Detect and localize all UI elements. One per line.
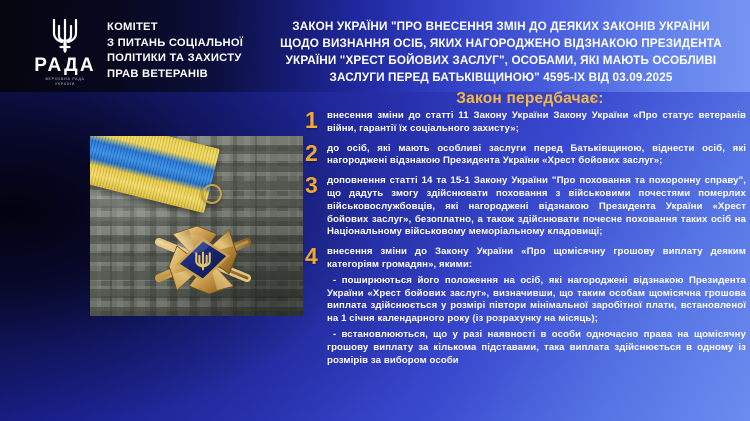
provision-number: 1	[305, 110, 327, 130]
infographic-poster: РАДА ВЕРХОВНА РАДА УКРАЇНИ КОМІТЕТ З ПИТ…	[0, 0, 750, 421]
provision-item: 2 до осіб, які мають особливі заслуги пе…	[305, 143, 746, 169]
logo-wordmark: РАДА	[28, 56, 102, 75]
law-title-line-4: ЗАСЛУГИ ПЕРЕД БАТЬКІВЩИНОЮ" 4595-IX ВІД …	[258, 69, 744, 86]
law-title-line-3: УКРАЇНИ "ХРЕСТ БОЙОВИХ ЗАСЛУГ", ОСОБАМИ,…	[258, 52, 744, 69]
provision-item: 3 доповнення статті 14 та 15-1 Закону Ук…	[305, 175, 746, 239]
provision-subitem: - поширюються його положення на осіб, як…	[327, 275, 746, 326]
provision-text: до осіб, які мають особливі заслуги пере…	[327, 143, 746, 169]
provision-text: внесення зміни до Закону України «Про що…	[327, 246, 746, 272]
law-title-line-1: ЗАКОН УКРАЇНИ "ПРО ВНЕСЕННЯ ЗМІН ДО ДЕЯК…	[258, 18, 744, 35]
verkhovna-rada-logo: РАДА ВЕРХОВНА РАДА УКРАЇНИ	[28, 14, 102, 88]
law-title-line-2: ЩОДО ВИЗНАННЯ ОСІБ, ЯКИХ НАГОРОДЖЕНО ВІД…	[258, 35, 744, 52]
provision-body: внесення зміни до статті 11 Закону Украї…	[327, 110, 746, 136]
provision-body: до осіб, які мають особливі заслуги пере…	[327, 143, 746, 169]
provision-item: 4 внесення зміни до Закону України «Про …	[305, 246, 746, 367]
combat-merit-cross-photo	[90, 136, 303, 316]
provision-text: внесення зміни до статті 11 Закону Украї…	[327, 110, 746, 136]
provision-number: 4	[305, 246, 327, 266]
provision-number: 2	[305, 143, 327, 163]
ukraine-trident-emblem-icon	[47, 14, 83, 54]
combat-merit-cross-medal-icon	[142, 208, 264, 312]
provision-body: внесення зміни до Закону України «Про що…	[327, 246, 746, 367]
provisions-list: 1 внесення зміни до статті 11 Закону Укр…	[305, 110, 746, 374]
provision-subitem: - встановлюються, що у разі наявності в …	[327, 329, 746, 367]
section-subtitle: Закон передбачає:	[320, 90, 740, 108]
provision-number: 3	[305, 175, 327, 195]
provision-body: доповнення статті 14 та 15-1 Закону Укра…	[327, 175, 746, 239]
law-title: ЗАКОН УКРАЇНИ "ПРО ВНЕСЕННЯ ЗМІН ДО ДЕЯК…	[258, 18, 744, 86]
provision-text: доповнення статті 14 та 15-1 Закону Укра…	[327, 175, 746, 239]
logo-subtext: ВЕРХОВНА РАДА УКРАЇНИ	[28, 77, 102, 88]
provision-item: 1 внесення зміни до статті 11 Закону Укр…	[305, 110, 746, 136]
